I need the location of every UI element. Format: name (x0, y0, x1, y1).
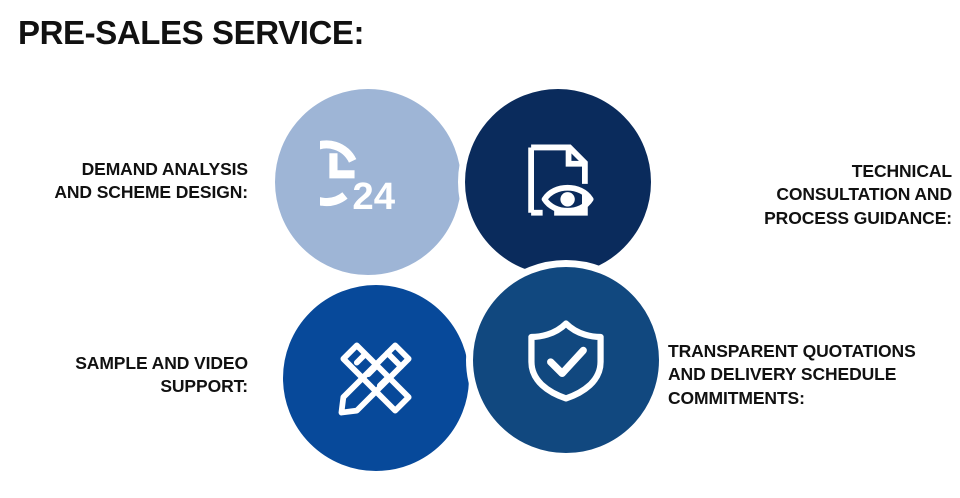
shield-check-icon (518, 312, 614, 408)
label-sample-video-support: SAMPLE AND VIDEO SUPPORT: (8, 352, 248, 399)
label-technical-consultation: TECHNICAL CONSULTATION AND PROCESS GUIDA… (728, 160, 952, 230)
label-demand-analysis: DEMAND ANALYSIS AND SCHEME DESIGN: (8, 158, 248, 205)
document-eye-icon (510, 134, 606, 230)
pen-ruler-icon (328, 330, 424, 426)
circle-sample-video-support[interactable] (276, 278, 476, 478)
circle-cluster: 24 (268, 82, 680, 494)
circle-technical-consultation[interactable] (458, 82, 658, 282)
label-transparent-quotations: TRANSPARENT QUOTATIONS AND DELIVERY SCHE… (668, 340, 960, 410)
circle-transparent-quotations[interactable] (466, 260, 666, 460)
infographic-canvas: PRE-SALES SERVICE: 24 (0, 0, 960, 498)
circle-demand-analysis[interactable]: 24 (268, 82, 468, 282)
page-title: PRE-SALES SERVICE: (18, 14, 364, 52)
svg-text:24: 24 (352, 175, 395, 218)
24-hour-rotation-icon: 24 (320, 134, 416, 230)
